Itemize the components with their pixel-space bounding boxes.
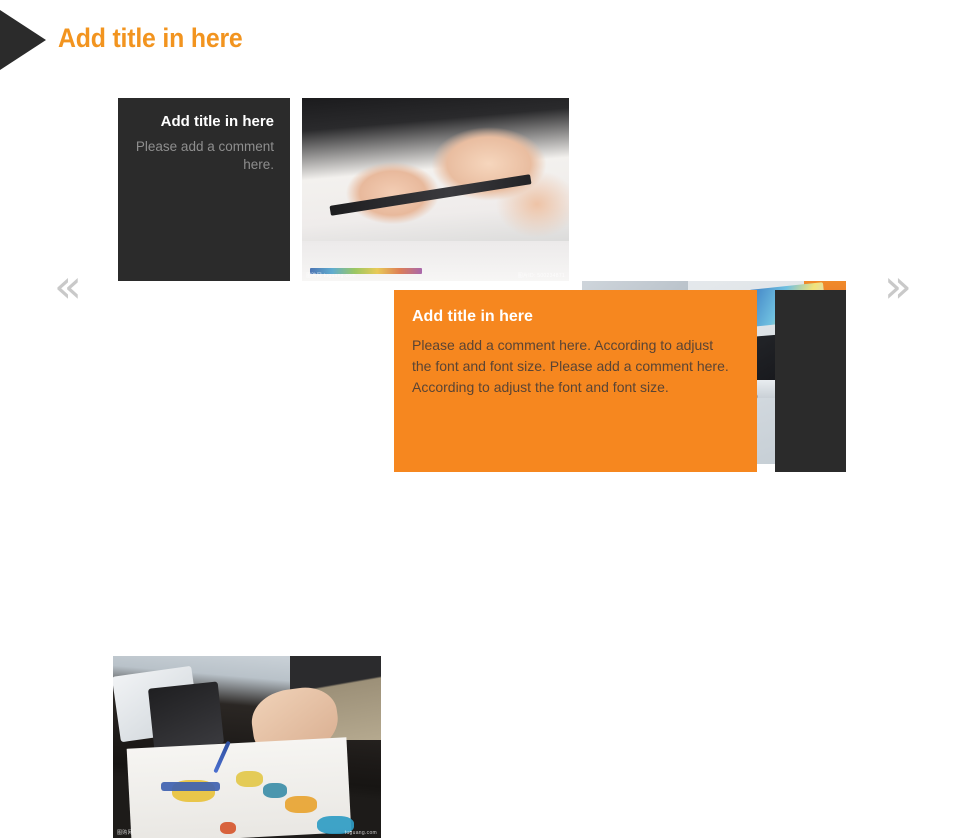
watermark-right: 图片ID: 500234871	[518, 272, 565, 279]
chart-bar-blue	[161, 782, 220, 791]
chart-blob-orange	[285, 796, 317, 812]
next-arrow[interactable]: »	[872, 262, 924, 310]
orange-card-title: Add title in here	[412, 308, 735, 326]
watermark-left: 图购网	[117, 829, 133, 836]
chart-blob-gold	[236, 771, 263, 787]
watermark-left: 图购网 tuguang.com	[306, 272, 356, 279]
slide-root: Add title in here « » Add title in here …	[0, 0, 960, 540]
page-title: Add title in here	[58, 23, 243, 54]
tablet-case	[147, 682, 223, 751]
orange-content-card: Add title in here Please add a comment h…	[394, 290, 757, 472]
dark-placeholder-block	[775, 290, 846, 472]
dark-card-title: Add title in here	[132, 112, 274, 131]
watermark-right: tuguang.com	[345, 830, 377, 836]
previous-arrow[interactable]: «	[42, 262, 94, 310]
photo-brainstorm-chart: 图购网 tuguang.com	[113, 656, 381, 838]
dark-card-body: Please add a comment here.	[132, 138, 274, 174]
orange-card-body: Please add a comment here. According to …	[412, 335, 735, 398]
title-arrow-icon	[0, 10, 46, 70]
tablet-device	[329, 174, 531, 216]
photo-hands-tablet: 图购网 tuguang.com 图片ID: 500234871	[302, 98, 569, 281]
chart-blob-red	[220, 822, 236, 835]
chart-blob-teal	[263, 783, 287, 798]
dark-text-card: Add title in here Please add a comment h…	[118, 98, 290, 281]
